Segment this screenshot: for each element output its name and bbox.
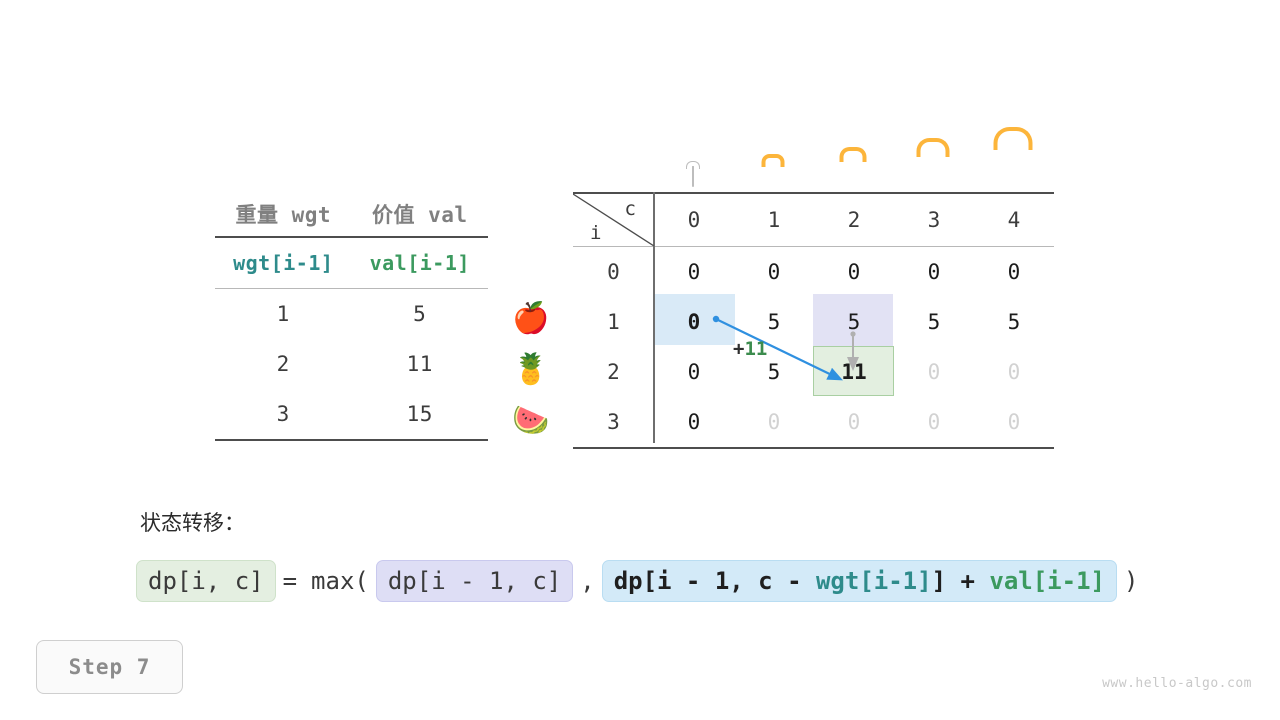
bag-slot-4: [973, 144, 1053, 186]
dp-col-header-3: 3: [894, 194, 974, 246]
bag-slot-1: [733, 162, 813, 186]
bag-empty-icon: [682, 167, 704, 185]
items-table: 重量 wgt 价值 val wgt[i-1] val[i-1] 1 5 2 11…: [215, 192, 488, 441]
dp-cell-0-3: 0: [894, 260, 974, 284]
formula-arg2-wgt: wgt[i-1]: [816, 567, 932, 595]
formula-lhs-chip: dp[i, c]: [136, 560, 276, 602]
formula-close-paren: ): [1117, 567, 1145, 595]
items-header-value: 价值 val: [352, 199, 489, 229]
plus-sign: +: [733, 338, 744, 360]
item-2-value: 11: [352, 352, 489, 376]
dp-table-corner-cell: i c: [573, 194, 654, 246]
dp-row-header-2: 2: [573, 360, 654, 384]
dp-row-header-3: 3: [573, 410, 654, 434]
item-2-weight: 2: [215, 352, 352, 376]
dp-table-rule-bottom: [573, 447, 1054, 449]
dp-table-row-3: 3 0 0 0 0 0: [573, 397, 1054, 447]
bag-size-2-icon: [837, 157, 869, 182]
items-header-weight: 重量 wgt: [215, 199, 352, 229]
dp-cell-3-4: 0: [974, 410, 1054, 434]
dp-cell-2-1: 5: [734, 360, 814, 384]
corner-col-axis-label: c: [625, 198, 636, 220]
bag-size-3-icon: [913, 151, 953, 182]
dp-table-header-row: i c 0 1 2 3 4: [573, 194, 1054, 246]
items-table-rule-bottom: [215, 439, 488, 441]
formula-comma: ,: [573, 567, 601, 595]
dp-col-header-2: 2: [814, 194, 894, 246]
value-added-annotation: +11: [733, 338, 767, 360]
dp-cell-2-4: 0: [974, 360, 1054, 384]
bag-capacity-icons: [573, 126, 1054, 186]
dp-col-header-0: 0: [654, 194, 734, 246]
added-value: 11: [744, 338, 767, 360]
dp-cell-3-2: 0: [814, 410, 894, 434]
watermelon-emoji: 🍉: [510, 400, 552, 442]
dp-cell-0-1: 0: [734, 260, 814, 284]
bag-slot-2: [813, 157, 893, 186]
formula-arg1-chip: dp[i - 1, c]: [376, 560, 573, 602]
items-table-row: 1 5: [215, 289, 488, 339]
dp-col-header-4: 4: [974, 194, 1054, 246]
dp-cell-1-2: 5: [814, 310, 894, 334]
formula-arg2-chip: dp[i - 1, c - wgt[i-1]] + val[i-1]: [602, 560, 1117, 602]
items-table-subheader-row: wgt[i-1] val[i-1]: [215, 238, 488, 288]
dp-cell-1-1: 5: [734, 310, 814, 334]
formula-arg2-mid: ] +: [932, 567, 990, 595]
formula-max-open: max(: [304, 567, 376, 595]
dp-cell-0-4: 0: [974, 260, 1054, 284]
dp-cell-1-4: 5: [974, 310, 1054, 334]
formula-arg2-val: val[i-1]: [989, 567, 1105, 595]
step-badge: Step 7: [36, 640, 183, 694]
dp-cell-0-0: 0: [654, 260, 734, 284]
transition-section-label: 状态转移：: [140, 507, 245, 537]
dp-cell-3-0: 0: [654, 410, 734, 434]
watermark: www.hello-algo.com: [1102, 676, 1252, 691]
item-1-value: 5: [352, 302, 489, 326]
dp-cell-3-1: 0: [734, 410, 814, 434]
corner-row-axis-label: i: [590, 222, 601, 244]
transition-formula: dp[i, c] = max( dp[i - 1, c] , dp[i - 1,…: [136, 560, 1145, 602]
dp-cell-2-0: 0: [654, 360, 734, 384]
items-subheader-wgt: wgt[i-1]: [215, 251, 352, 275]
bag-slot-3: [893, 151, 973, 186]
items-table-row: 2 11: [215, 339, 488, 389]
item-3-weight: 3: [215, 402, 352, 426]
corner-diagonal-line: [573, 194, 654, 246]
dp-row-header-0: 0: [573, 260, 654, 284]
dp-cell-2-3: 0: [894, 360, 974, 384]
dp-cell-1-0: 0: [654, 310, 734, 334]
formula-equals: =: [276, 567, 304, 595]
formula-arg2-prefix: dp[i - 1, c -: [614, 567, 816, 595]
apple-emoji: 🍎: [510, 298, 552, 340]
dp-cell-3-3: 0: [894, 410, 974, 434]
item-1-weight: 1: [215, 302, 352, 326]
items-subheader-val: val[i-1]: [352, 251, 489, 275]
dp-row-header-1: 1: [573, 310, 654, 334]
item-3-value: 15: [352, 402, 489, 426]
bag-slot-0: [653, 167, 733, 186]
bag-size-4-icon: [988, 144, 1038, 182]
dp-cell-0-2: 0: [814, 260, 894, 284]
pineapple-emoji: 🍍: [510, 349, 552, 391]
dp-cell-2-2: 11: [814, 360, 894, 384]
dp-table: i c 0 1 2 3 4 0 0 0 0 0 0 1 0 5 5 5 5 2 …: [573, 192, 1054, 449]
dp-col-header-1: 1: [734, 194, 814, 246]
dp-cell-1-3: 5: [894, 310, 974, 334]
bag-size-1-icon: [760, 162, 786, 182]
dp-table-row-0: 0 0 0 0 0 0: [573, 247, 1054, 297]
items-table-row: 3 15: [215, 389, 488, 439]
items-table-header-row: 重量 wgt 价值 val: [215, 192, 488, 236]
